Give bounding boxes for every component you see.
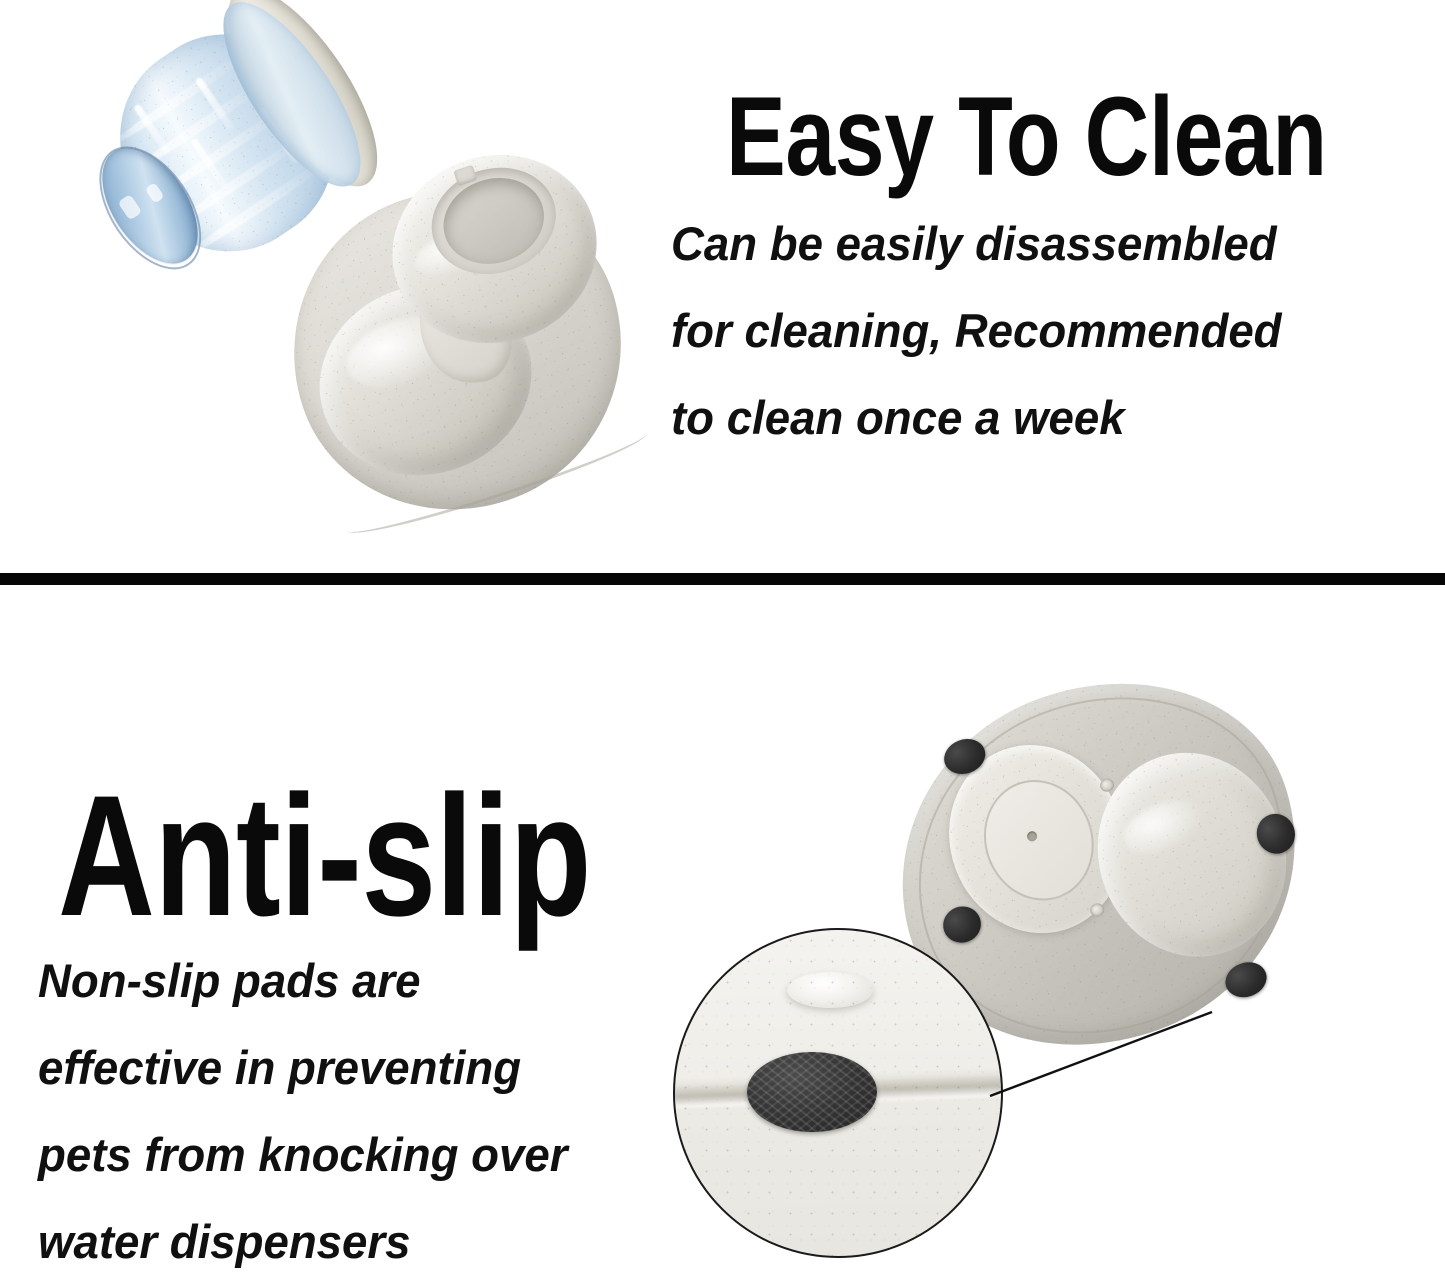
easy-to-clean-body-line-1: Can be easily disassembled [671,220,1277,267]
page-title-anti-slip: Anti-slip [58,770,591,942]
infographic-page: Easy To Clean Can be easily disassembled… [0,0,1445,1279]
leader-line-icon [990,1010,1220,1100]
anti-slip-body-line-2: effective in preventing [38,1044,521,1091]
easy-to-clean-body-line-3: to clean once a week [671,394,1125,441]
section-divider [0,573,1445,585]
pet-bowl-photo [276,150,666,540]
magnifier-circle-icon [673,928,1003,1258]
anti-slip-body-line-1: Non-slip pads are [38,957,421,1004]
anti-slip-body-line-4: water dispensers [38,1218,410,1265]
easy-to-clean-body-line-2: for cleaning, Recommended [671,307,1282,354]
pet-bowl-illustration [225,99,716,590]
anti-slip-body-line-3: pets from knocking over [38,1131,567,1178]
page-title-easy-to-clean: Easy To Clean [726,81,1327,193]
magnifier-dome-bump [787,972,873,1008]
magnified-non-slip-pad [747,1052,877,1132]
